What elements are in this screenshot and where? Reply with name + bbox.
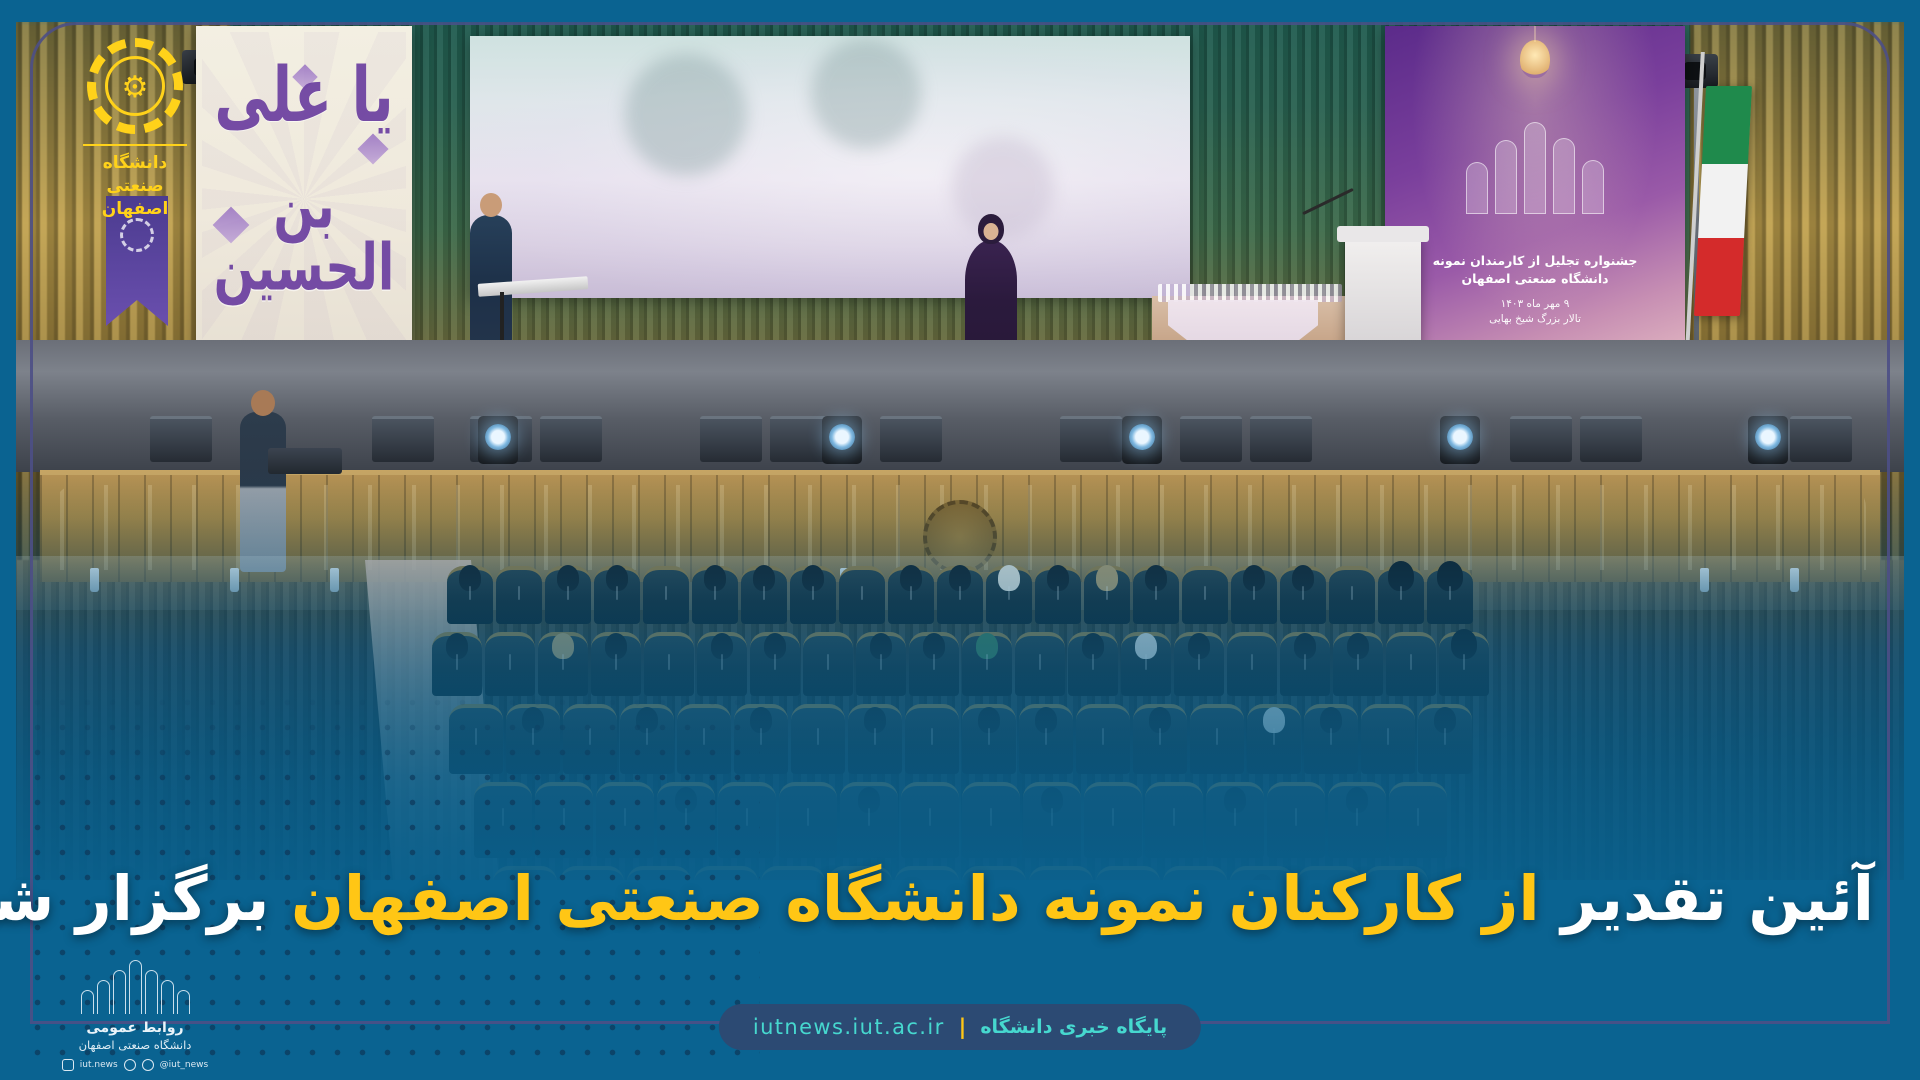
attendee bbox=[557, 565, 579, 591]
attendee bbox=[704, 565, 726, 591]
news-poster: یا علی بن الحسین جشنواره تجلیل از کارمند… bbox=[0, 0, 1920, 1080]
lightbulb-icon bbox=[1520, 40, 1550, 78]
page-title: آئین تقدیر از کارکنان نمونه دانشگاه صنعت… bbox=[174, 862, 1874, 935]
attendee bbox=[1149, 707, 1171, 733]
social-handles: iut.news @iut_news bbox=[50, 1059, 220, 1071]
seat-row bbox=[0, 704, 1920, 774]
stage-monitor bbox=[1510, 416, 1572, 462]
university-name-line-1: دانشگاه bbox=[60, 152, 210, 175]
attendee bbox=[675, 787, 697, 813]
calligraphy-banner: یا علی بن الحسین bbox=[196, 26, 412, 372]
attendee bbox=[605, 633, 627, 659]
headline-part-1: آئین تقدیر bbox=[1561, 862, 1874, 935]
event-banner: جشنواره تجلیل از کارمندان نمونه دانشگاه … bbox=[1385, 26, 1685, 366]
cameraman bbox=[240, 412, 286, 572]
technician-keyboard bbox=[470, 215, 512, 345]
attendee bbox=[1294, 633, 1316, 659]
stage-monitor bbox=[1180, 416, 1242, 462]
stage-monitor bbox=[1580, 416, 1642, 462]
moving-head-light bbox=[822, 416, 862, 464]
stage-monitor bbox=[880, 416, 942, 462]
head bbox=[480, 193, 502, 217]
projection-screen bbox=[470, 36, 1190, 298]
attendee bbox=[998, 565, 1020, 591]
event-date: ۹ مهر ماه ۱۴۰۳ bbox=[1385, 297, 1685, 312]
attendee bbox=[1434, 707, 1456, 733]
event-photograph: یا علی بن الحسین جشنواره تجلیل از کارمند… bbox=[0, 0, 1920, 880]
moving-head-light bbox=[1440, 416, 1480, 464]
instagram-handle: iut.news bbox=[80, 1060, 118, 1070]
attendee bbox=[552, 633, 574, 659]
attendee bbox=[1347, 633, 1369, 659]
telegram-handle: @iut_news bbox=[160, 1060, 209, 1070]
attendee bbox=[1188, 633, 1210, 659]
audience-seating bbox=[0, 560, 1920, 880]
news-site-label: پایگاه خبری دانشگاه bbox=[980, 1016, 1167, 1038]
attendee bbox=[1096, 565, 1118, 591]
university-name-line-3: اصفهان bbox=[60, 198, 210, 221]
public-relations-logo: روابط عمومی دانشگاه صنعتی اصفهان iut.new… bbox=[50, 958, 220, 1071]
headline-part-2: از کارکنان نمونه دانشگاه صنعتی اصفهان bbox=[291, 862, 1540, 935]
attendee bbox=[753, 565, 775, 591]
moving-head-light bbox=[1122, 416, 1162, 464]
attendee bbox=[864, 707, 886, 733]
pr-name-line-2: دانشگاه صنعتی اصفهان bbox=[50, 1038, 220, 1052]
attendee bbox=[711, 633, 733, 659]
attendee bbox=[606, 565, 628, 591]
attendee bbox=[1346, 787, 1368, 813]
attendee bbox=[949, 565, 971, 591]
calligraphy-line-1: یا علی bbox=[196, 60, 412, 132]
university-name-line-2: صنعتی bbox=[60, 175, 210, 198]
attendee bbox=[1035, 707, 1057, 733]
gear-seal-icon: ⚙ bbox=[87, 38, 183, 134]
seat-row bbox=[0, 566, 1920, 624]
calligraphy-line-2: بن الحسین bbox=[196, 176, 412, 299]
logo-divider bbox=[83, 144, 187, 146]
attendee bbox=[764, 633, 786, 659]
head bbox=[251, 390, 275, 416]
attendee bbox=[750, 707, 772, 733]
attendee bbox=[1041, 787, 1063, 813]
seat-row bbox=[0, 632, 1920, 696]
event-banner-text: جشنواره تجلیل از کارمندان نمونه دانشگاه … bbox=[1385, 252, 1685, 328]
telegram-icon bbox=[124, 1059, 136, 1071]
news-site-footer[interactable]: پایگاه خبری دانشگاه | iutnews.iut.ac.ir bbox=[719, 1004, 1201, 1050]
attendee bbox=[900, 565, 922, 591]
stage-monitor bbox=[1250, 416, 1312, 462]
stage-monitor bbox=[150, 416, 212, 462]
attendee bbox=[858, 787, 880, 813]
attendee bbox=[636, 707, 658, 733]
moving-head-light bbox=[478, 416, 518, 464]
stage-monitor bbox=[372, 416, 434, 462]
attendee bbox=[1243, 565, 1265, 591]
event-title-line-1: جشنواره تجلیل از کارمندان نمونه bbox=[1385, 252, 1685, 270]
stage-monitor bbox=[1790, 416, 1852, 462]
attendee bbox=[459, 565, 481, 591]
seat-row bbox=[0, 782, 1920, 858]
attendee bbox=[1263, 707, 1285, 733]
seal-glyph: ⚙ bbox=[122, 73, 149, 103]
attendee bbox=[522, 707, 544, 733]
attendee bbox=[802, 565, 824, 591]
event-title-line-2: دانشگاه صنعتی اصفهان bbox=[1385, 270, 1685, 288]
university-logo: ⚙ دانشگاه صنعتی اصفهان bbox=[60, 38, 210, 221]
attendee bbox=[1082, 633, 1104, 659]
eitaa-icon bbox=[142, 1059, 154, 1071]
attendee bbox=[923, 633, 945, 659]
headline-part-3: برگزار شد bbox=[0, 862, 269, 935]
attendee bbox=[978, 707, 1000, 733]
video-camera-icon bbox=[268, 448, 342, 474]
attendee bbox=[976, 633, 998, 659]
news-site-url[interactable]: iutnews.iut.ac.ir bbox=[753, 1015, 945, 1039]
attendee bbox=[1224, 787, 1246, 813]
attendee bbox=[446, 633, 468, 659]
instagram-icon bbox=[62, 1059, 74, 1071]
stage-monitor bbox=[700, 416, 762, 462]
attendee bbox=[1292, 565, 1314, 591]
attendee bbox=[1437, 561, 1463, 591]
attendee bbox=[1145, 565, 1167, 591]
arches-graphic bbox=[1466, 122, 1604, 214]
attendee bbox=[870, 633, 892, 659]
event-venue: تالار بزرگ شیخ بهایی bbox=[1385, 312, 1685, 327]
attendee bbox=[1135, 633, 1157, 659]
award-plaques bbox=[1158, 284, 1342, 302]
attendee bbox=[1047, 565, 1069, 591]
moving-head-light bbox=[1748, 416, 1788, 464]
stage-monitor bbox=[1060, 416, 1122, 462]
pennant-emblem-icon bbox=[120, 218, 154, 252]
face bbox=[984, 223, 999, 240]
skyline-icon bbox=[50, 958, 220, 1014]
attendee bbox=[1451, 629, 1477, 659]
stage-monitor bbox=[540, 416, 602, 462]
attendee bbox=[1388, 561, 1414, 591]
pr-name-line-1: روابط عمومی bbox=[50, 1020, 220, 1036]
attendee bbox=[1320, 707, 1342, 733]
footer-separator: | bbox=[959, 1015, 967, 1039]
